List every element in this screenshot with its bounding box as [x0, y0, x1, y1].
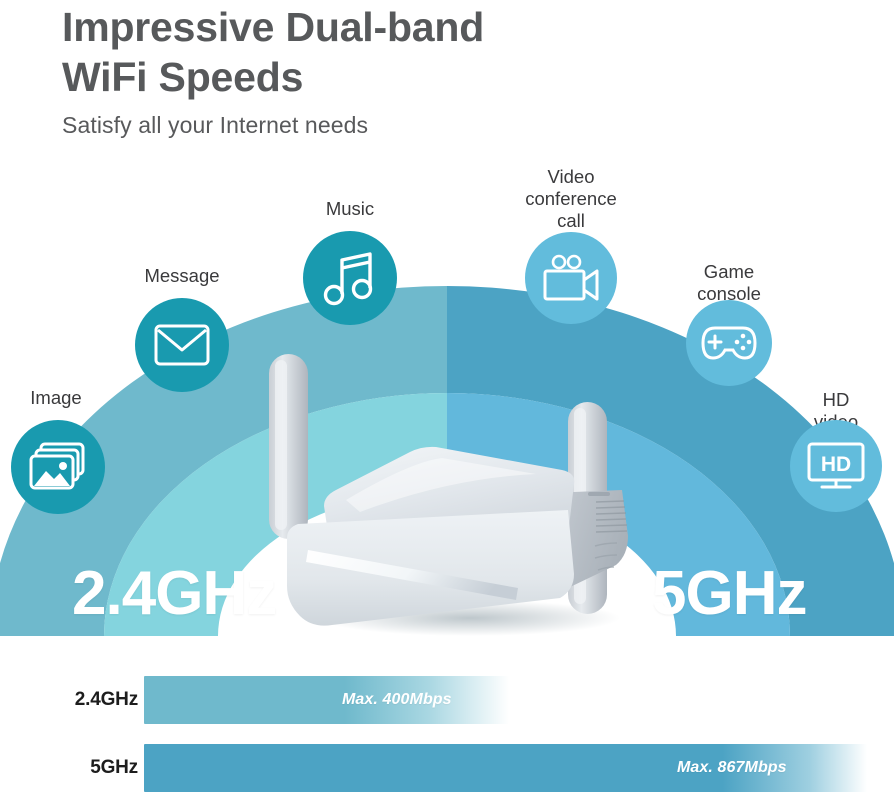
headline-block: Impressive Dual-band WiFi Speeds Satisfy…: [62, 2, 762, 139]
bar-value-5ghz: Max. 867Mbps: [677, 759, 787, 777]
bar-row-5ghz: 5GHz Max. 867Mbps: [0, 744, 894, 792]
bar-category-5ghz: 5GHz: [0, 757, 138, 779]
feature-label-message: Message: [144, 265, 219, 287]
band-label-2-4ghz: 2.4GHz: [72, 563, 276, 625]
gamepad-icon: [701, 326, 757, 360]
feature-bubble-hd-video[interactable]: HD: [790, 420, 882, 512]
bar-fill-5ghz: Max. 867Mbps: [144, 744, 867, 792]
band-label-5ghz: 5GHz: [652, 563, 806, 625]
svg-text:HD: HD: [821, 453, 851, 476]
page-title: Impressive Dual-band WiFi Speeds: [62, 2, 762, 102]
music-note-icon: [324, 250, 376, 306]
feature-bubble-message[interactable]: [135, 298, 229, 392]
bar-fill-2-4ghz: Max. 400Mbps: [144, 676, 509, 724]
page-subtitle: Satisfy all your Internet needs: [62, 112, 762, 139]
hd-tv-icon: HD: [807, 442, 865, 490]
feature-label-image: Image: [30, 387, 81, 409]
feature-bubble-game-console[interactable]: [686, 300, 772, 386]
envelope-icon: [154, 324, 210, 366]
feature-bubble-music[interactable]: [303, 231, 397, 325]
video-camera-icon: [542, 254, 600, 302]
bar-row-2-4ghz: 2.4GHz Max. 400Mbps: [0, 676, 894, 724]
bar-category-2-4ghz: 2.4GHz: [0, 689, 138, 711]
feature-label-music: Music: [326, 198, 374, 220]
feature-label-video-conference: Video conference call: [525, 166, 617, 233]
bar-value-2-4ghz: Max. 400Mbps: [342, 691, 452, 709]
bar-track-2-4ghz: Max. 400Mbps: [144, 676, 509, 724]
feature-label-game-console: Game console: [697, 261, 761, 305]
image-icon: [29, 442, 87, 492]
speed-comparison-chart: 2.4GHz Max. 400Mbps 5GHz Max. 867Mbps: [0, 655, 894, 798]
feature-bubble-image[interactable]: [11, 420, 105, 514]
bar-track-5ghz: Max. 867Mbps: [144, 744, 867, 792]
feature-bubble-video-conference[interactable]: [525, 232, 617, 324]
